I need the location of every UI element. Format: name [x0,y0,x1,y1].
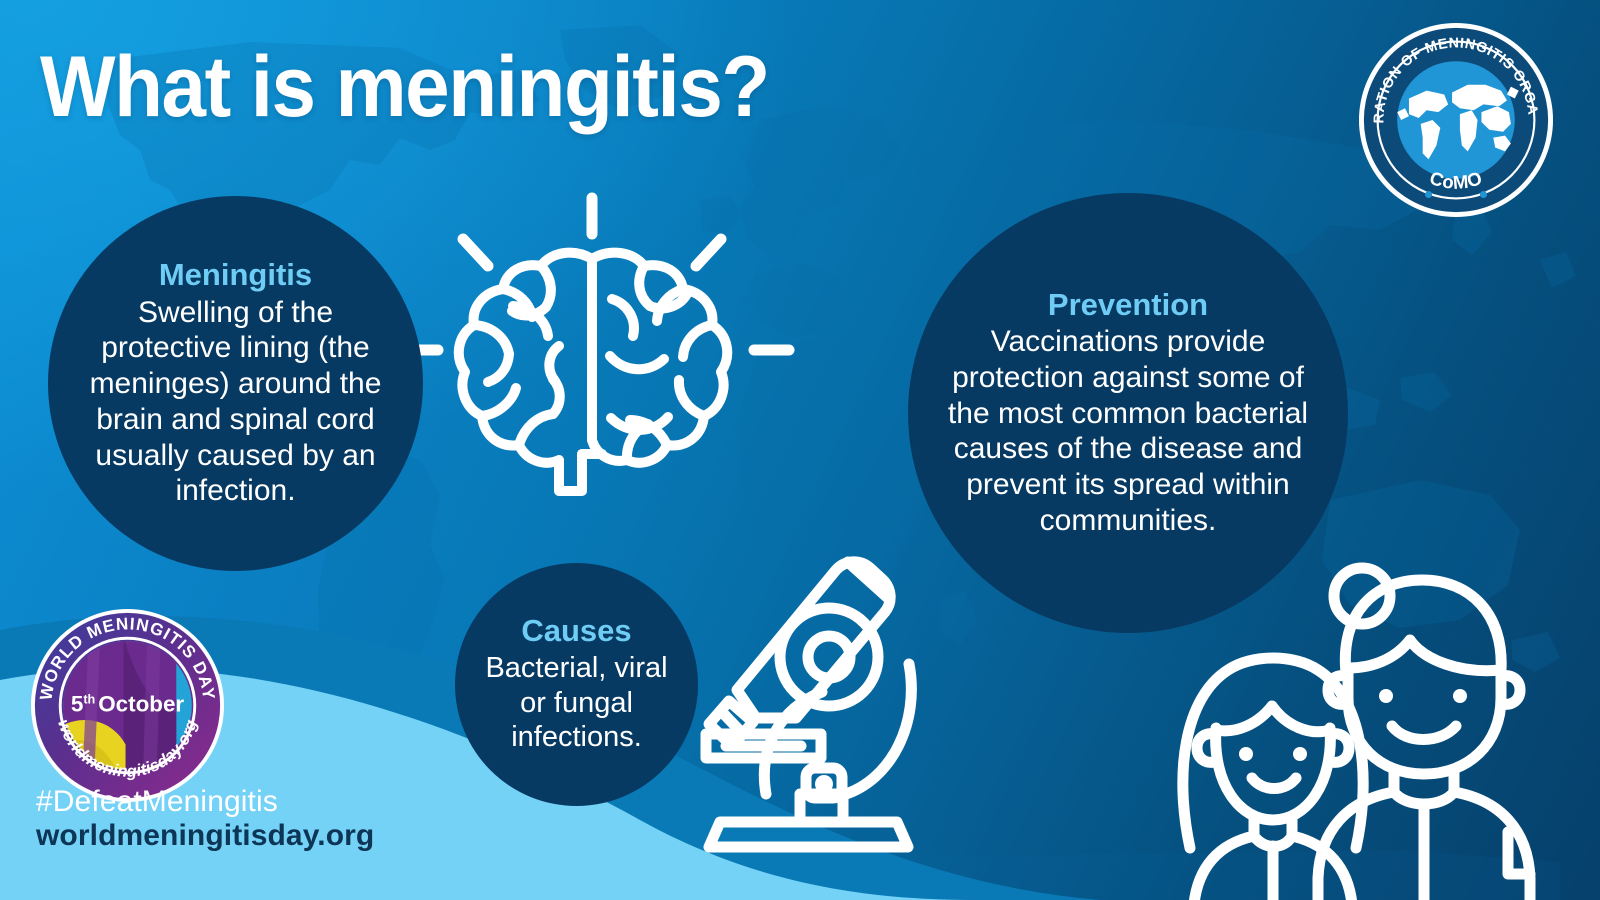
bubble-body-meningitis: Swelling of the protective lining (the m… [74,295,397,509]
wmd-day: 5 [71,691,83,716]
wmd-ordinal: th [83,693,95,707]
bubble-heading-prevention: Prevention [1048,288,1208,323]
page-title: What is meningitis? [40,44,769,130]
bubble-body-prevention: Vaccinations provide protection against … [934,324,1322,538]
bubble-heading-causes: Causes [521,614,631,649]
brain-icon [396,186,796,516]
info-bubble-meningitis: Meningitis Swelling of the protective li… [48,196,423,571]
footer-hashtag: #DefeatMeningitis [36,785,278,819]
bubble-heading-meningitis: Meningitis [159,258,312,293]
infographic-canvas: What is meningitis? [0,0,1600,900]
como-logo: CONFEDERATION OF MENINGITIS ORGANISATION… [1358,22,1554,218]
world-meningitis-day-badge: WORLD MENINGITIS DAY worldmeningitisday.… [30,608,225,803]
wmd-month: October [98,691,184,716]
footer-url-link[interactable]: worldmeningitisday.org [36,819,374,853]
info-bubble-prevention: Prevention Vaccinations provide protecti… [908,193,1348,633]
bubble-body-causes: Bacterial, viral or fungal infections. [469,651,684,755]
info-bubble-causes: Causes Bacterial, viral or fungal infect… [455,563,698,806]
microscope-icon [696,522,946,862]
